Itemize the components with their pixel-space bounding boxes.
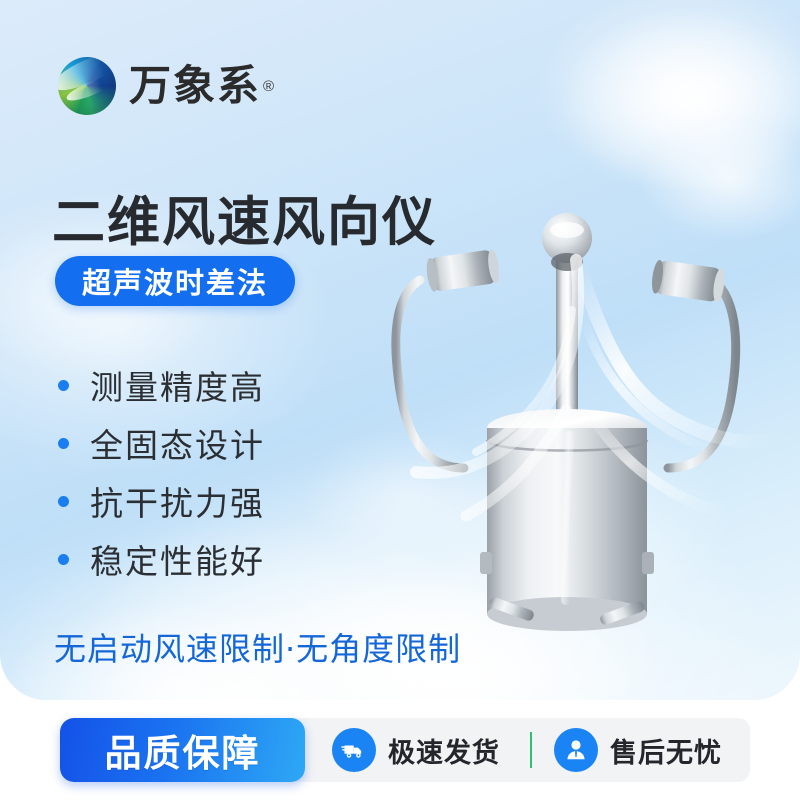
service-label: 售后无忧 [610, 731, 722, 770]
list-item: 测量精度高 [58, 356, 265, 414]
registered-trademark-icon: ® [263, 78, 274, 95]
service-item-after-sales: 售后无忧 [554, 718, 722, 782]
hero-tagline: 无启动风速限制·无角度限制 [54, 624, 461, 670]
bullet-dot-icon [58, 438, 69, 449]
globe-swirl-icon [58, 57, 116, 115]
product-poster: 万象系 ® 二维风速风向仪 超声波时差法 测量精度高 全固态设计 抗干扰力强 稳… [0, 0, 800, 800]
product-image-anemometer [380, 200, 780, 670]
service-item-fast-shipping: 极速发货 [332, 718, 500, 782]
quality-assurance-badge: 品质保障 [60, 718, 305, 782]
bullet-dot-icon [58, 380, 69, 391]
customer-service-person-icon [554, 728, 598, 772]
feature-label: 测量精度高 [90, 361, 265, 409]
cloud-decoration [560, 10, 800, 190]
bullet-dot-icon [58, 554, 69, 565]
service-divider [530, 732, 532, 768]
list-item: 全固态设计 [58, 414, 265, 472]
feature-label: 全固态设计 [90, 419, 265, 467]
service-label: 极速发货 [388, 731, 500, 770]
feature-label: 稳定性能好 [90, 535, 265, 583]
bullet-dot-icon [58, 496, 69, 507]
page-title: 二维风速风向仪 [52, 194, 437, 252]
hero-card: 万象系 ® 二维风速风向仪 超声波时差法 测量精度高 全固态设计 抗干扰力强 稳… [0, 0, 800, 700]
brand-logo: 万象系 ® [58, 57, 274, 115]
delivery-truck-icon [332, 728, 376, 772]
feature-label: 抗干扰力强 [90, 477, 265, 525]
service-bar: 品质保障 极速发货 [60, 718, 750, 782]
list-item: 抗干扰力强 [58, 472, 265, 530]
brand-name: 万象系 [129, 65, 261, 107]
list-item: 稳定性能好 [58, 530, 265, 588]
feature-list: 测量精度高 全固态设计 抗干扰力强 稳定性能好 [58, 356, 265, 588]
method-badge: 超声波时差法 [55, 256, 295, 306]
